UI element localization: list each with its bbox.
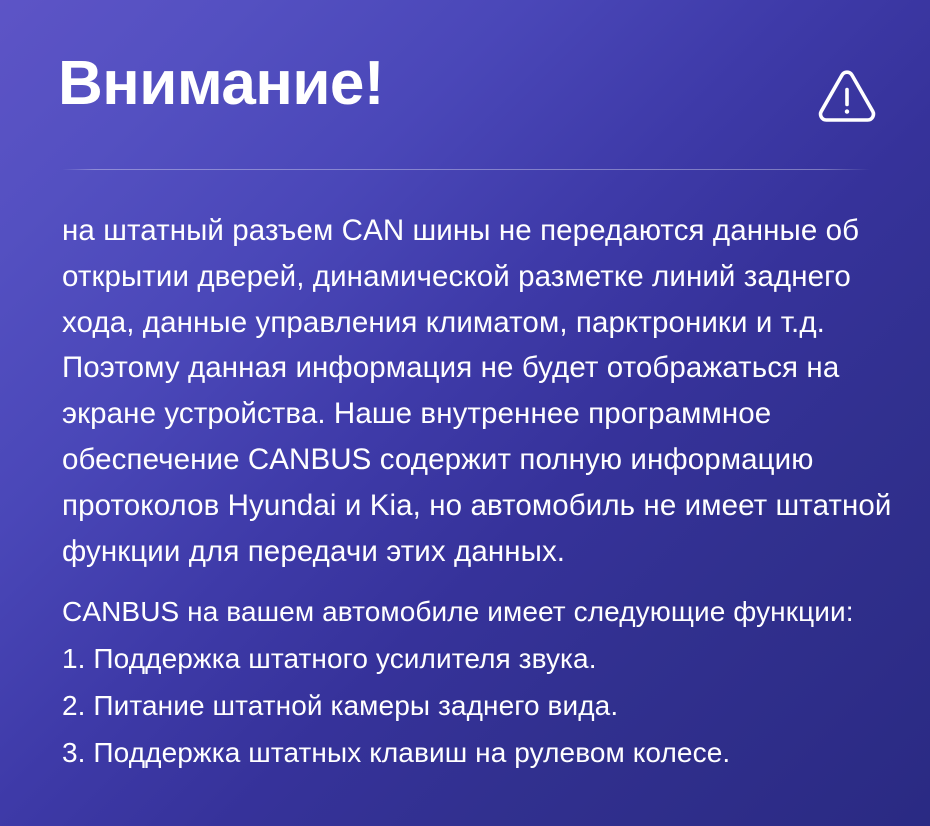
notice-body-line: Поэтому данная информация не будет отобр…: [62, 345, 880, 391]
list-item: 3. Поддержка штатных клавиш на рулевом к…: [62, 729, 880, 776]
list-item: 1. Поддержка штатного усилителя звука.: [62, 635, 880, 682]
notice-body-line: хода, данные управления климатом, парктр…: [62, 300, 880, 346]
warning-triangle-icon: [816, 66, 878, 124]
notice-body-line: обеспечение CANBUS содержит полную инфор…: [62, 437, 880, 483]
list-item: 2. Питание штатной камеры заднего вида.: [62, 682, 880, 729]
notice-body-line: на штатный разъем CAN шины не передаются…: [62, 208, 880, 254]
notice-body-line: экране устройства. Наше внутреннее прогр…: [62, 391, 880, 437]
header-divider: [62, 169, 870, 170]
notice-body-line: протоколов Hyundai и Kia, но автомобиль …: [62, 483, 880, 529]
page-title: Внимание!: [58, 53, 384, 115]
notice-body-line: функции для передачи этих данных.: [62, 529, 880, 575]
notice-body: на штатный разъем CAN шины не передаются…: [62, 208, 880, 574]
notice-body-line: открытии дверей, динамической разметке л…: [62, 254, 880, 300]
functions-heading: CANBUS на вашем автомобиле имеет следующ…: [62, 589, 880, 635]
notice-page: Внимание! на штатный разъем CAN шины не …: [0, 0, 930, 826]
page-header: Внимание!: [0, 0, 930, 170]
functions-section: CANBUS на вашем автомобиле имеет следующ…: [62, 589, 880, 776]
